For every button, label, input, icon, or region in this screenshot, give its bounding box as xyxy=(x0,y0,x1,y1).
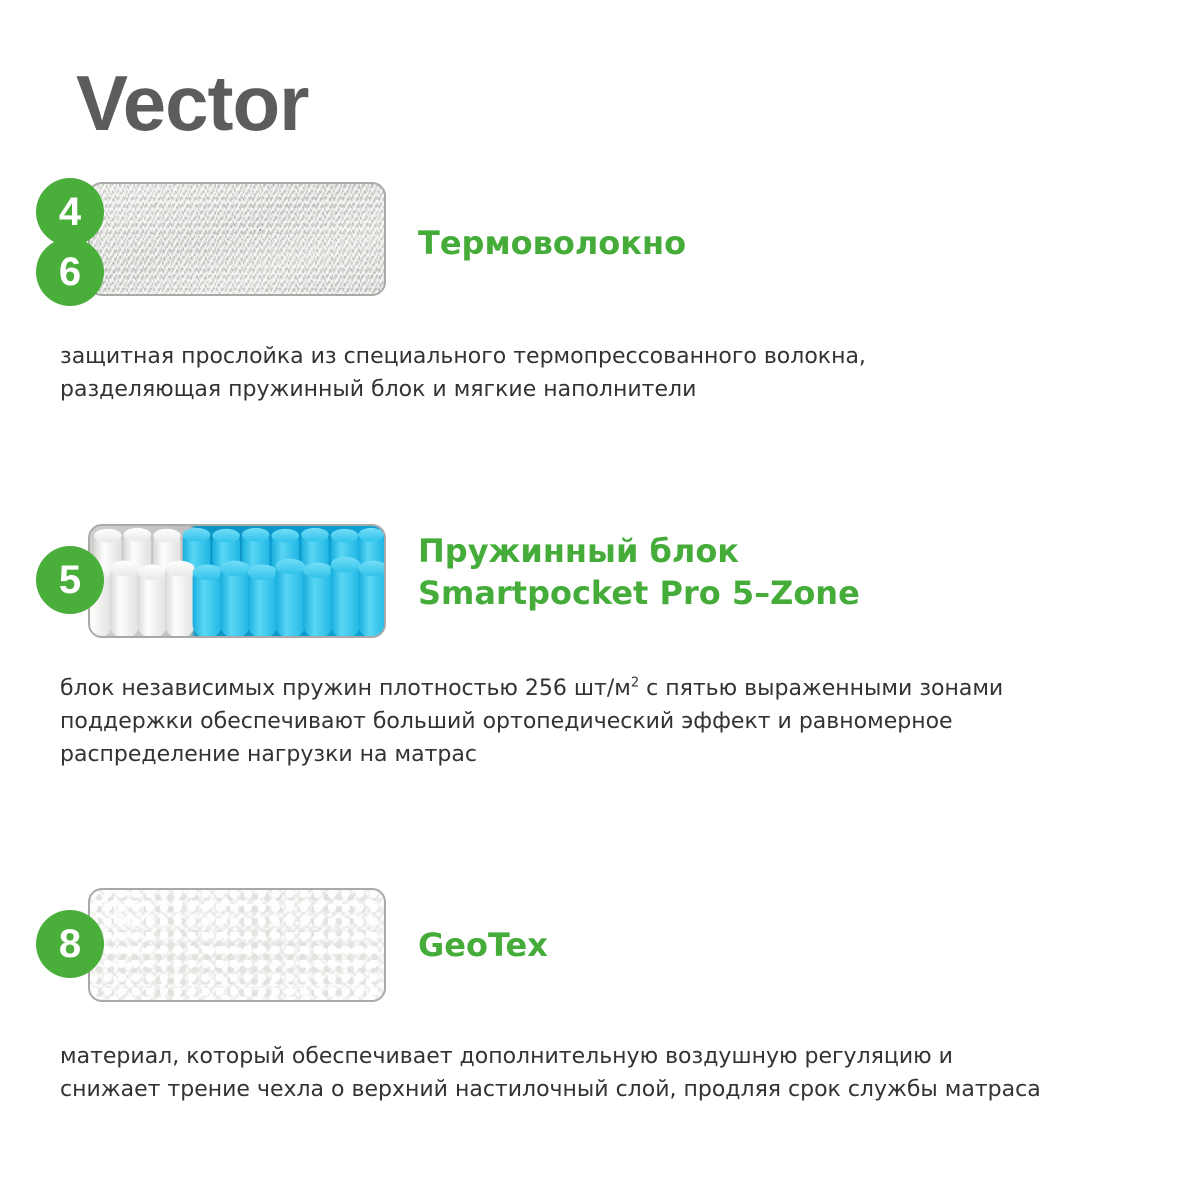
layer-description-springs-part1: блок независимых пружин плотностью 256 ш… xyxy=(60,676,631,701)
layer-number-badges: 5 xyxy=(36,546,108,614)
layer-badge-4: 4 xyxy=(36,178,104,246)
layer-row: 8 GeoTex xyxy=(0,888,1194,1028)
layer-number-badges: 4 6 xyxy=(36,178,108,306)
layer-heading-geotex: GeoTex xyxy=(418,924,548,966)
layer-description-geotex: материал, который обеспечивает дополните… xyxy=(60,1040,1170,1106)
layer-section-thermo: 4 6 Термоволокно защитная прослойка из с… xyxy=(0,178,1194,318)
product-layers-infographic: Vector 4 6 Термоволокно защитная прослой… xyxy=(0,0,1194,1194)
spring-block-swatch xyxy=(88,524,386,638)
layer-heading-thermo: Термоволокно xyxy=(418,222,686,264)
thermo-fiber-swatch xyxy=(88,182,386,296)
pocket-springs-illustration xyxy=(90,526,384,636)
geotex-swatch xyxy=(88,888,386,1002)
layer-section-springs: 5 xyxy=(0,524,1194,664)
layer-row: 5 xyxy=(0,524,1194,664)
layer-section-geotex: 8 GeoTex материал, который обеспечивает … xyxy=(0,888,1194,1028)
layer-badge-5: 5 xyxy=(36,546,104,614)
layer-description-springs-superscript: 2 xyxy=(631,676,639,691)
page-title: Vector xyxy=(76,62,308,144)
layer-badge-6: 6 xyxy=(36,238,104,306)
layer-number-badges: 8 xyxy=(36,910,108,978)
layer-row: 4 6 Термоволокно xyxy=(0,178,1194,318)
layer-description-springs: блок независимых пружин плотностью 256 ш… xyxy=(60,672,1170,771)
layer-badge-8: 8 xyxy=(36,910,104,978)
layer-heading-springs: Пружинный блок Smartpocket Pro 5–Zone xyxy=(418,530,860,614)
layer-description-thermo: защитная прослойка из специального термо… xyxy=(60,340,1170,406)
